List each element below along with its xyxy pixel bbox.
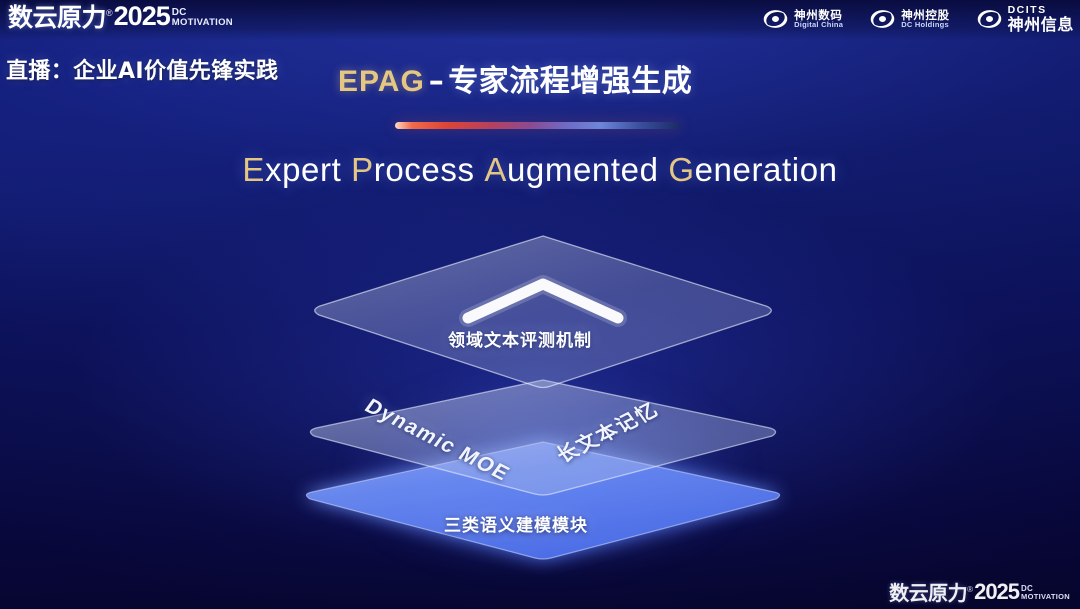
brand-sub-line2: MOTIVATION [172, 18, 233, 28]
slide-main-title: EPAG–专家流程增强生成 [338, 56, 692, 100]
live-session-title: 直播：企业AI价值先锋实践 [6, 53, 278, 85]
brand-registered-mark: ® [106, 8, 113, 18]
watermark-year: 2025 [974, 581, 1019, 603]
brand-logo-chinese: 数云原力 [8, 5, 106, 30]
swirl-icon [762, 8, 789, 30]
diagram-layer-top[interactable]: 领域文本评测机制 [296, 228, 790, 573]
subtitle-rest-3: ugmented [507, 151, 659, 188]
subtitle-rest-2: rocess [374, 151, 475, 188]
subtitle-cap-1: E [242, 151, 265, 188]
partner-logo-group: 神州数码 Digital China 神州控股 DC Holdings [762, 5, 1074, 34]
subtitle-rest-4: eneration [695, 151, 838, 188]
subtitle-cap-3: A [484, 151, 507, 188]
top-layer-label: 领域文本评测机制 [448, 326, 592, 351]
watermark-subtext: DC MOTIVATION [1021, 585, 1070, 603]
subtitle-cap-4: G [668, 151, 694, 188]
swirl-icon [869, 8, 896, 30]
partner-logo-dcits: DCITS 神州信息 [976, 5, 1074, 34]
partner-logo-dc-holdings: 神州控股 DC Holdings [869, 8, 949, 30]
partner-logo-text: 神州数码 Digital China [794, 9, 843, 30]
partner-logo-text: 神州控股 DC Holdings [901, 9, 949, 30]
subtitle-cap-2: P [351, 151, 374, 188]
slide-subtitle: Expert Process Augmented Generation [0, 151, 1080, 189]
brand-logo-year: 2025 [114, 3, 170, 30]
layered-architecture-diagram: 三类语义建模模块 Dynamic MOE 长文本记忆 [296, 228, 790, 573]
partner-name-en: Digital China [794, 21, 843, 29]
brand-logo-subtext: DC MOTIVATION [172, 8, 233, 30]
partner-logo-text: DCITS 神州信息 [1008, 5, 1074, 34]
title-acronym: EPAG [338, 65, 425, 98]
brand-watermark: 数云原力 ® 2025 DC MOTIVATION [889, 581, 1070, 603]
partner-logo-digital-china: 神州数码 Digital China [762, 8, 843, 30]
slide-canvas: 数云原力 ® 2025 DC MOTIVATION 直播：企业AI价值先锋实践 … [0, 0, 1080, 609]
gradient-divider [395, 122, 680, 129]
title-chinese: 专家流程增强生成 [448, 64, 692, 99]
partner-name-cn: 神州信息 [1008, 16, 1074, 33]
subtitle-rest-1: xpert [265, 151, 341, 188]
top-plate-shape [296, 228, 790, 573]
partner-name-en: DC Holdings [901, 21, 949, 29]
title-dash: – [425, 64, 449, 99]
watermark-sub-line2: MOTIVATION [1021, 593, 1070, 601]
brand-logo: 数云原力 ® 2025 DC MOTIVATION [8, 3, 233, 30]
watermark-registered-mark: ® [967, 585, 973, 594]
watermark-chinese: 数云原力 [889, 583, 967, 603]
swirl-icon [976, 8, 1003, 30]
